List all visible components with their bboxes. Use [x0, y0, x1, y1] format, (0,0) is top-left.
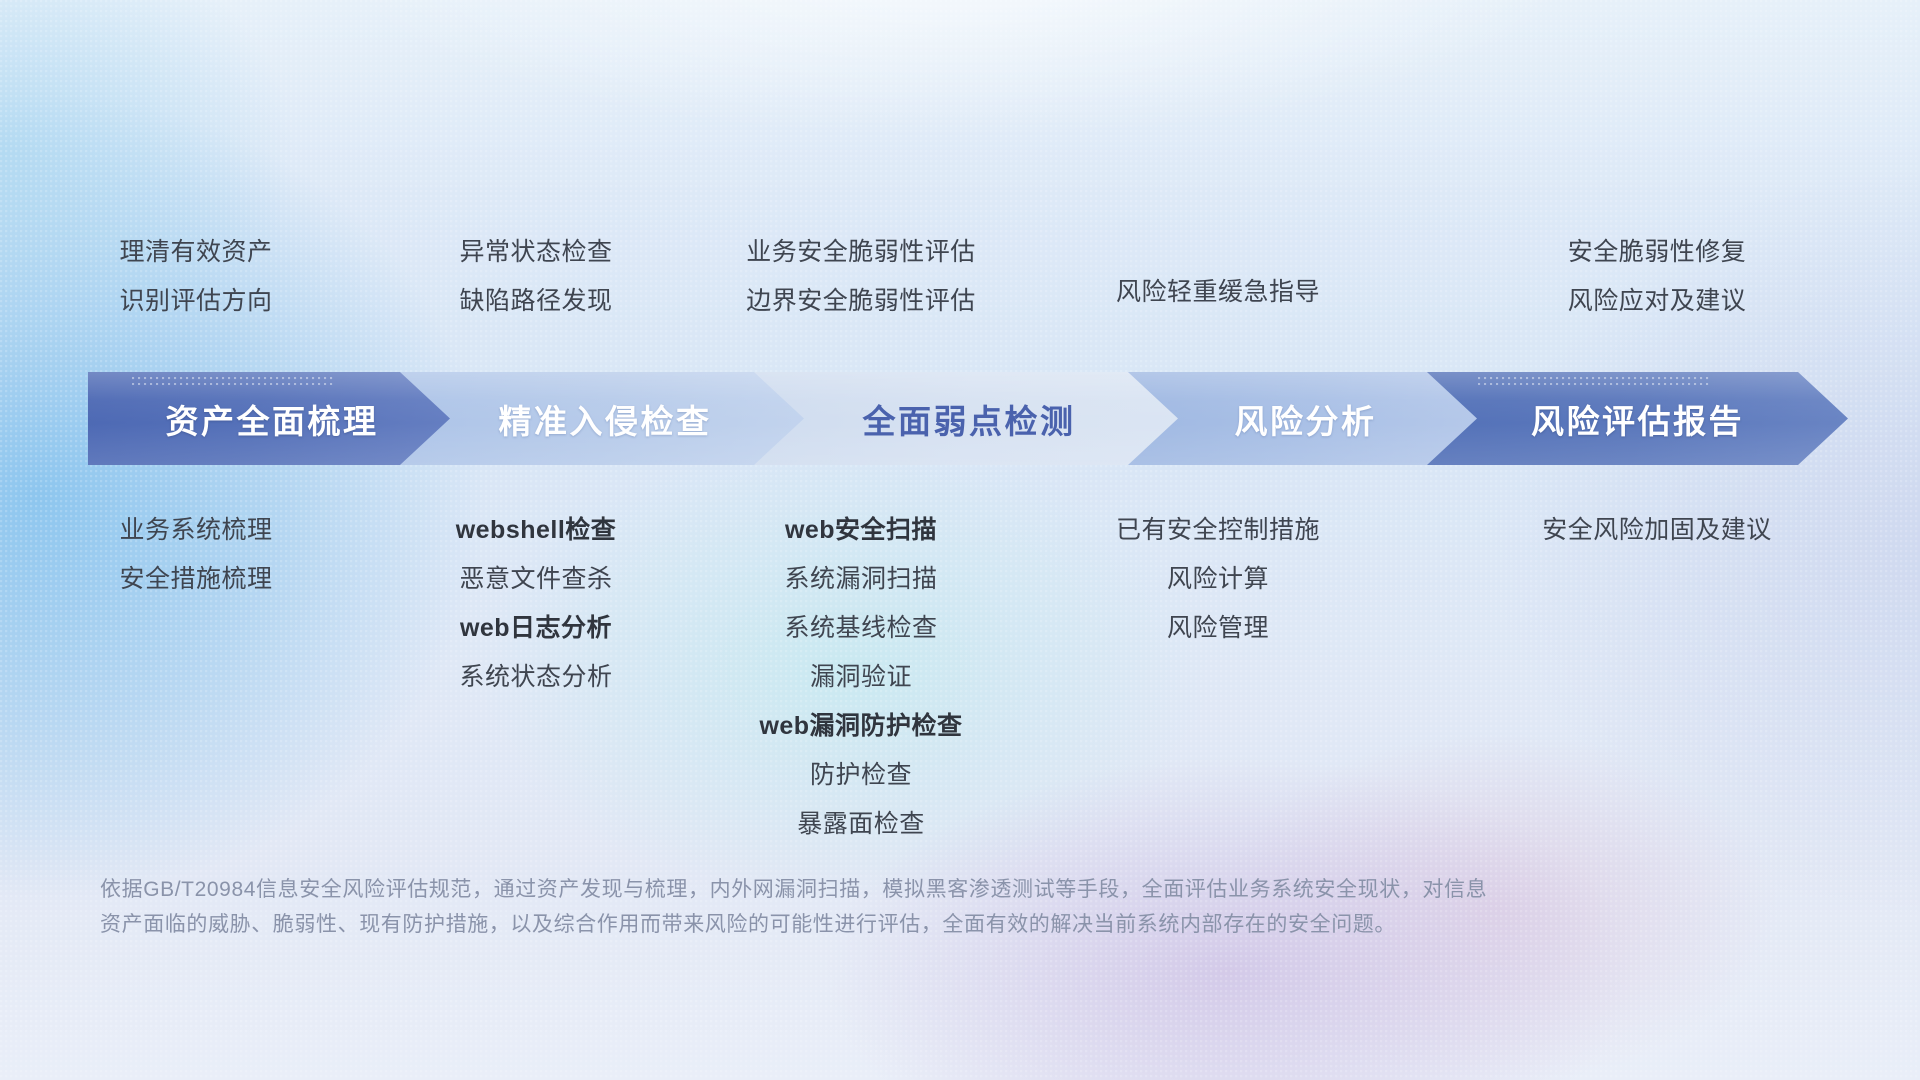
detail-text: 安全风险加固及建议 [1394, 506, 1920, 555]
top-details-assessment-report: 安全脆弱性修复 风险应对及建议 [1394, 228, 1920, 326]
chevron-label: 资产全面梳理 [166, 395, 379, 443]
detail-text: web日志分析 [392, 604, 680, 653]
detail-text: 识别评估方向 [0, 277, 392, 326]
top-details-weakness-detection: 业务安全脆弱性评估 边界安全脆弱性评估 [680, 228, 1042, 326]
top-details-intrusion-check: 异常状态检查 缺陷路径发现 [392, 228, 680, 326]
chevron-label: 全面弱点检测 [863, 395, 1076, 443]
bottom-details-row: 业务系统梳理 安全措施梳理 webshell检查 恶意文件查杀 web日志分析 … [0, 506, 1920, 849]
detail-text: 业务系统梳理 [0, 506, 392, 555]
detail-text: 暴露面检查 [680, 800, 1042, 849]
detail-text: 缺陷路径发现 [392, 277, 680, 326]
detail-text: 风险轻重缓急指导 [1042, 268, 1394, 317]
detail-text: 系统状态分析 [392, 653, 680, 702]
detail-text: 风险计算 [1042, 555, 1394, 604]
detail-text: 安全措施梳理 [0, 555, 392, 604]
detail-text: 恶意文件查杀 [392, 555, 680, 604]
top-details-row: 理清有效资产 识别评估方向 异常状态检查 缺陷路径发现 业务安全脆弱性评估 边界… [0, 228, 1920, 326]
bottom-details-asset-inventory: 业务系统梳理 安全措施梳理 [0, 506, 392, 604]
process-chevron-ribbon: 资产全面梳理 精准入侵检查 全面弱点检测 风险分析 风险评估报告 [88, 372, 1848, 465]
chevron-stage-asset-inventory[interactable]: 资产全面梳理 [88, 372, 456, 465]
bottom-details-assessment-report: 安全风险加固及建议 [1394, 506, 1920, 555]
chevron-label: 风险评估报告 [1531, 395, 1744, 443]
chevron-stage-weakness-detection[interactable]: 全面弱点检测 [754, 372, 1184, 465]
detail-text: 安全脆弱性修复 [1394, 228, 1920, 277]
chevron-label: 风险分析 [1235, 395, 1377, 443]
chevron-stage-assessment-report[interactable]: 风险评估报告 [1427, 372, 1848, 465]
detail-text: 业务安全脆弱性评估 [680, 228, 1042, 277]
footer-description: 依据GB/T20984信息安全风险评估规范，通过资产发现与梳理，内外网漏洞扫描，… [100, 872, 1740, 942]
chevron-stage-intrusion-check[interactable]: 精准入侵检查 [400, 372, 810, 465]
detail-text: 异常状态检查 [392, 228, 680, 277]
footer-line: 资产面临的威胁、脆弱性、现有防护措施，以及综合作用而带来风险的可能性进行评估，全… [100, 907, 1740, 942]
bottom-details-risk-analysis: 已有安全控制措施 风险计算 风险管理 [1042, 506, 1394, 653]
detail-text: 漏洞验证 [680, 653, 1042, 702]
footer-line: 依据GB/T20984信息安全风险评估规范，通过资产发现与梳理，内外网漏洞扫描，… [100, 872, 1740, 907]
detail-text: 防护检查 [680, 751, 1042, 800]
detail-text: 理清有效资产 [0, 228, 392, 277]
detail-text: 系统漏洞扫描 [680, 555, 1042, 604]
top-details-risk-analysis: 风险轻重缓急指导 [1042, 228, 1394, 317]
detail-text: webshell检查 [392, 506, 680, 555]
detail-text: 边界安全脆弱性评估 [680, 277, 1042, 326]
detail-text: 已有安全控制措施 [1042, 506, 1394, 555]
chevron-stage-risk-analysis[interactable]: 风险分析 [1128, 372, 1483, 465]
detail-text: 风险应对及建议 [1394, 277, 1920, 326]
detail-text: 系统基线检查 [680, 604, 1042, 653]
bottom-details-weakness-detection: web安全扫描 系统漏洞扫描 系统基线检查 漏洞验证 web漏洞防护检查 防护检… [680, 506, 1042, 849]
bottom-details-intrusion-check: webshell检查 恶意文件查杀 web日志分析 系统状态分析 [392, 506, 680, 702]
detail-text: web漏洞防护检查 [680, 702, 1042, 751]
detail-text: 风险管理 [1042, 604, 1394, 653]
chevron-label: 精准入侵检查 [499, 395, 712, 443]
slide-canvas: 理清有效资产 识别评估方向 异常状态检查 缺陷路径发现 业务安全脆弱性评估 边界… [0, 0, 1920, 1080]
top-details-asset-inventory: 理清有效资产 识别评估方向 [0, 228, 392, 326]
detail-text: web安全扫描 [680, 506, 1042, 555]
